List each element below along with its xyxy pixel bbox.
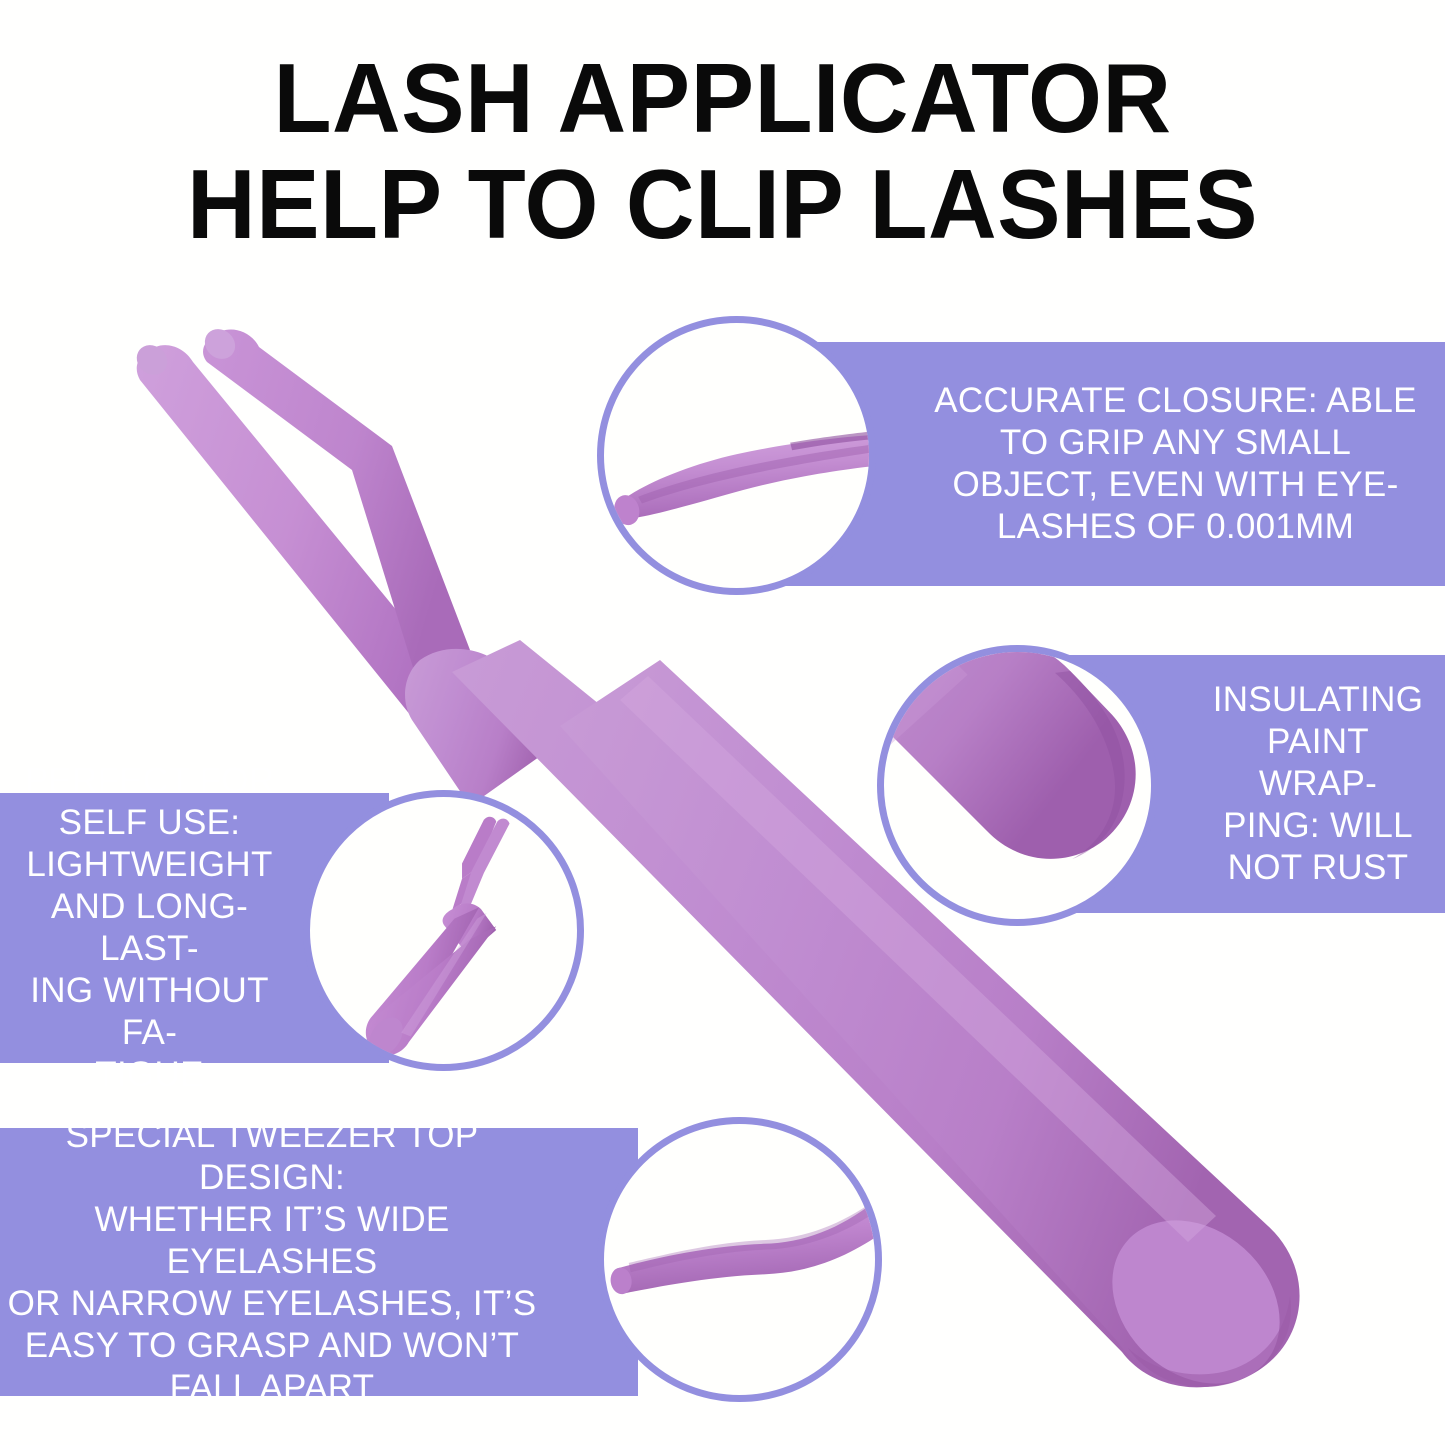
callout-text-insulating-paint: INSULATING PAINT WRAP- PING: WILL NOT RU… [1205, 679, 1431, 889]
page-title: LASH APPLICATOR HELP TO CLIP LASHES [0, 46, 1445, 258]
detail-circle-curved-prong [597, 1117, 882, 1402]
detail-circle-closed-tip [597, 316, 876, 595]
title-line-1: LASH APPLICATOR [22, 46, 1424, 152]
callout-text-perfect-for-self-use: PERFECT FOR SELF USE: LIGHTWEIGHT AND LO… [2, 760, 297, 1096]
detail-circle-handle-paddle [877, 645, 1158, 926]
infographic-poster: LASH APPLICATOR HELP TO CLIP LASHES [0, 0, 1445, 1445]
callout-band-special-tweezer-top: SPECIAL TWEEZER TOP DESIGN: WHETHER IT’S… [0, 1128, 638, 1396]
callout-text-special-tweezer-top: SPECIAL TWEEZER TOP DESIGN: WHETHER IT’S… [6, 1115, 538, 1409]
detail-circle-whole-tweezer [303, 790, 584, 1071]
title-line-2: HELP TO CLIP LASHES [22, 152, 1424, 258]
callout-text-accurate-closure: ACCURATE CLOSURE: ABLE TO GRIP ANY SMALL… [928, 380, 1423, 548]
